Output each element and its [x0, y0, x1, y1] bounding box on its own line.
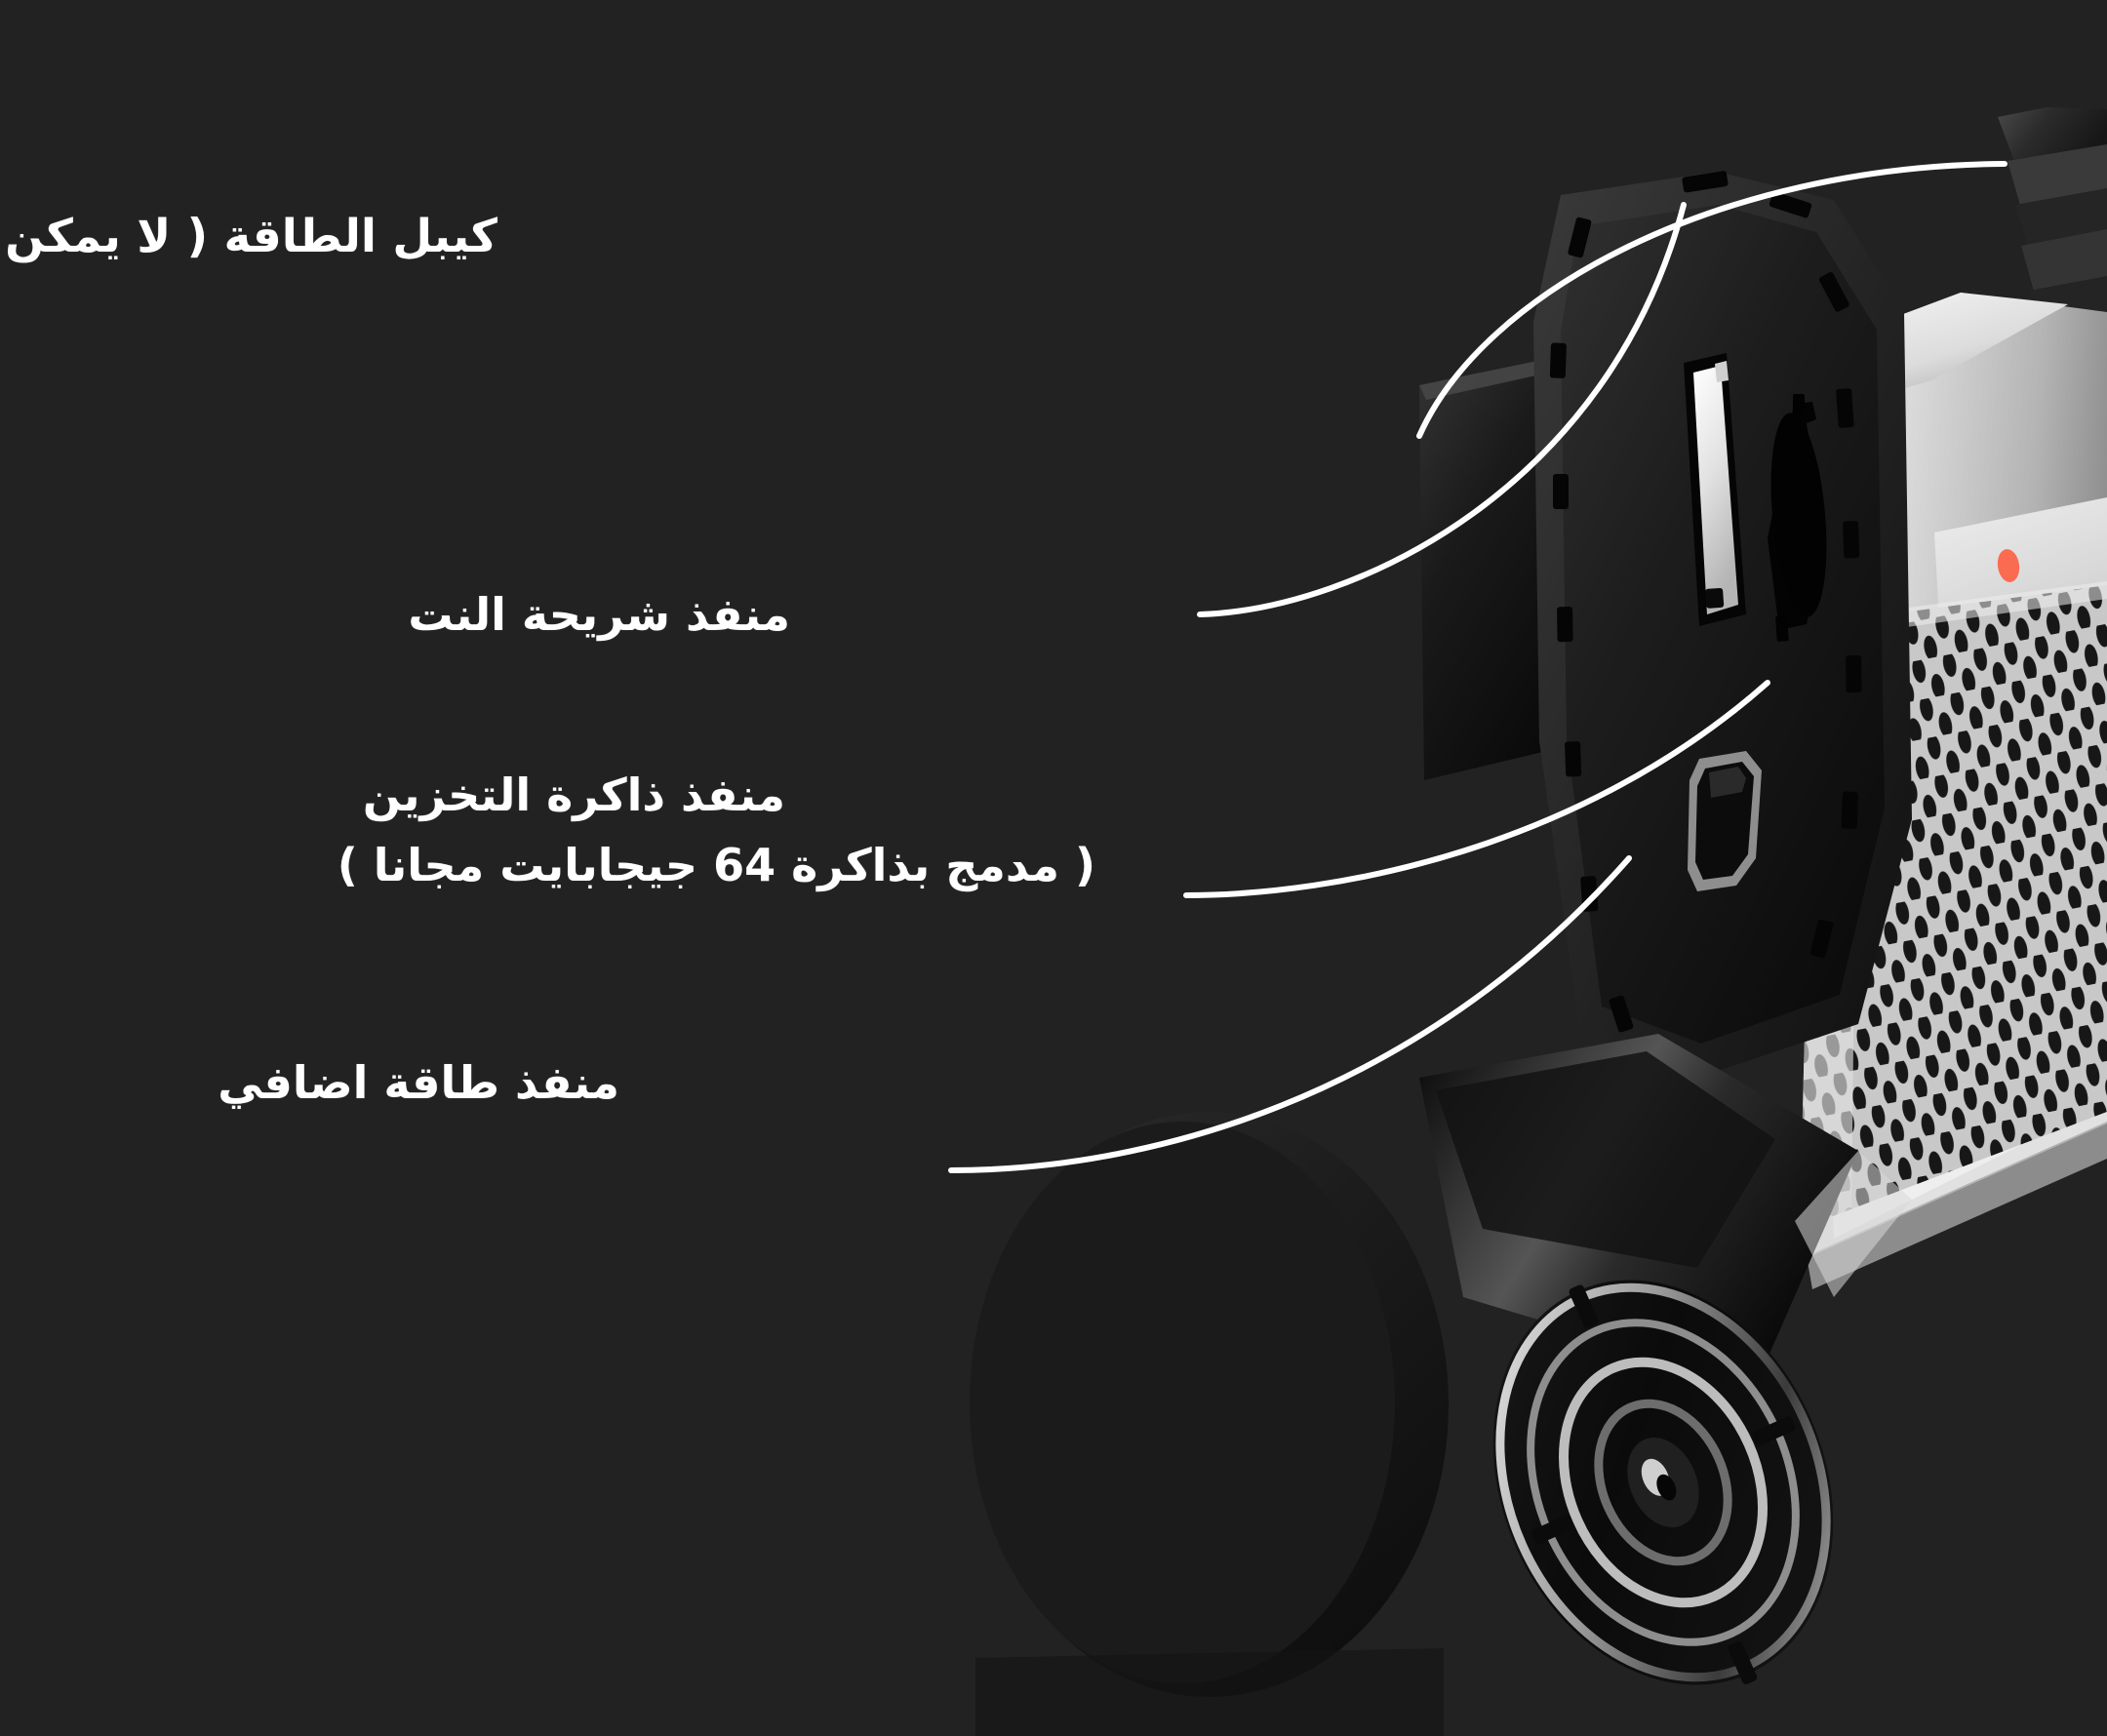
- suction-cup: [970, 1112, 1449, 1736]
- device-front-face: [1533, 171, 1912, 1078]
- label-sim-slot: منفذ شريحة النت: [408, 585, 790, 646]
- speaker-grille: [1800, 585, 2107, 1229]
- rim-notches: [1550, 171, 1862, 1033]
- label-storage-line1: منفذ ذاكرة التخزين: [363, 769, 785, 821]
- camera-lens: [1429, 1221, 1899, 1736]
- leader-line-aux-power: [951, 858, 1629, 1170]
- sd-card-slot: [1764, 394, 1834, 642]
- status-led: [1996, 548, 2022, 584]
- power-cable-connector: [1998, 107, 2107, 466]
- leader-line-sim-slot: [1200, 205, 1684, 614]
- label-power-cable: كيبل الطاقة ( لا يمكن للسائق فصله او الع…: [0, 207, 497, 268]
- status-led-panel: [1934, 497, 2107, 655]
- product-diagram-canvas: كيبل الطاقة ( لا يمكن للسائق فصله او الع…: [0, 0, 2107, 1736]
- device-neck: [1419, 1034, 1858, 1385]
- label-storage-line2: ( مدمج بذاكرة 64 جيجابايت مجانا ): [338, 836, 1095, 896]
- mount-bracket: [1419, 356, 1594, 780]
- sim-card-slot: [1684, 353, 1746, 626]
- usb-power-port: [1688, 751, 1762, 891]
- leader-line-power-cable: [1419, 164, 2005, 436]
- label-storage-slot: منفذ ذاكرة التخزين ( مدمج بذاكرة 64 جيجا…: [338, 766, 785, 895]
- label-aux-power: منفذ طاقة اضافي: [218, 1053, 619, 1114]
- device-silver-shell: [1800, 293, 2107, 1289]
- leader-line-storage-slot: [1186, 683, 1768, 895]
